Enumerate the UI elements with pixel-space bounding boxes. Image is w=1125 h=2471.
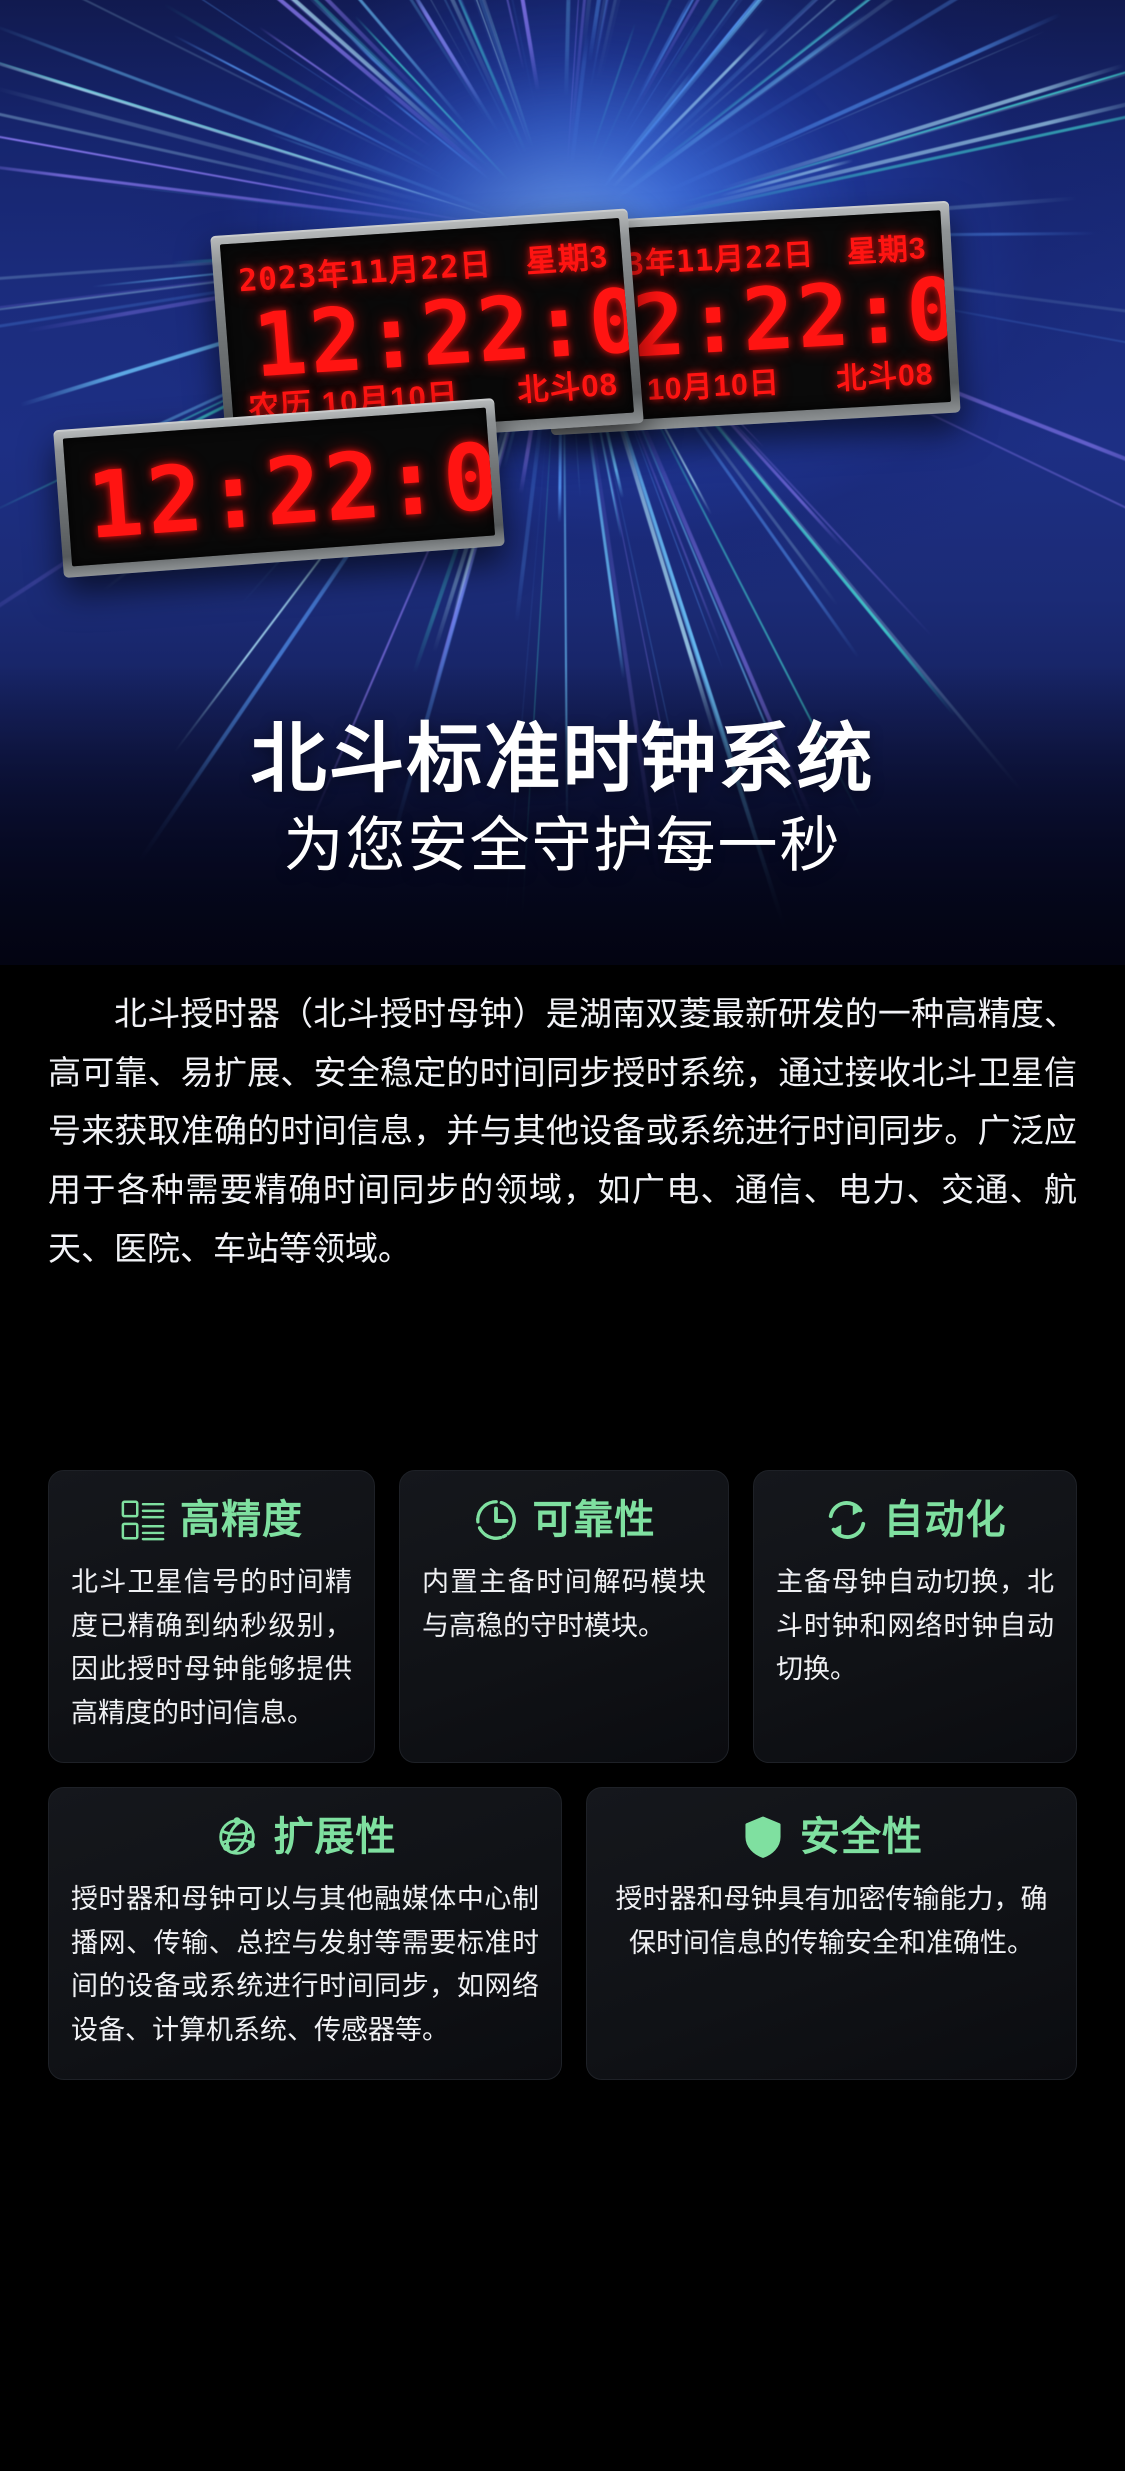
card-body: 主备母钟自动切换，北斗时钟和网络时钟自动切换。 [776, 1561, 1054, 1692]
led-screen: 12:22:03 [63, 408, 495, 567]
globe-network-icon [214, 1814, 260, 1860]
list-squares-icon [120, 1497, 166, 1543]
led-clock-small: 12:22:03 [53, 398, 505, 578]
card-header: 可靠性 [422, 1497, 706, 1543]
page-subtitle: 为您安全守护每一秒 [0, 812, 1125, 879]
feature-card-automation[interactable]: 自动化 主备母钟自动切换，北斗时钟和网络时钟自动切换。 [753, 1470, 1077, 1763]
clock-group: 2023年11月22日 星期3 12:22:03 农历 10月10日 北斗08 … [0, 0, 1125, 660]
card-title: 可靠性 [533, 1500, 656, 1540]
feature-card-precision[interactable]: 高精度 北斗卫星信号的时间精度已精确到纳秒级别，因此授时母钟能够提供高精度的时间… [48, 1470, 375, 1763]
hero-banner: 2023年11月22日 星期3 12:22:03 农历 10月10日 北斗08 … [0, 0, 1125, 965]
shield-icon [740, 1814, 786, 1860]
card-header: 自动化 [776, 1497, 1054, 1543]
feature-cards: 高精度 北斗卫星信号的时间精度已精确到纳秒级别，因此授时母钟能够提供高精度的时间… [48, 1470, 1077, 2080]
clock-source: 北斗08 [835, 349, 935, 398]
card-title: 安全性 [800, 1817, 923, 1857]
card-body: 内置主备时间解码模块与高稳的守时模块。 [422, 1561, 706, 1648]
card-title: 自动化 [884, 1500, 1007, 1540]
clock-source: 北斗08 [516, 359, 620, 411]
intro-paragraph: 北斗授时器（北斗授时母钟）是湖南双菱最新研发的一种高精度、高可靠、易扩展、安全稳… [0, 985, 1125, 1279]
card-body: 授时器和母钟具有加密传输能力，确保时间信息的传输安全和准确性。 [609, 1878, 1054, 1965]
card-header: 安全性 [609, 1814, 1054, 1860]
feature-card-reliability[interactable]: 可靠性 内置主备时间解码模块与高稳的守时模块。 [399, 1470, 729, 1763]
feature-card-security[interactable]: 安全性 授时器和母钟具有加密传输能力，确保时间信息的传输安全和准确性。 [586, 1787, 1077, 2080]
card-title: 高精度 [180, 1500, 303, 1540]
page-title: 北斗标准时钟系统 [0, 718, 1125, 802]
card-title: 扩展性 [274, 1817, 397, 1857]
clock-icon [473, 1497, 519, 1543]
card-header: 高精度 [71, 1497, 352, 1543]
card-body: 北斗卫星信号的时间精度已精确到纳秒级别，因此授时母钟能够提供高精度的时间信息。 [71, 1561, 352, 1736]
card-header: 扩展性 [71, 1814, 539, 1860]
feature-card-scalability[interactable]: 扩展性 授时器和母钟可以与其他融媒体中心制播网、传输、总控与发射等需要标准时间的… [48, 1787, 562, 2080]
feature-row-1: 高精度 北斗卫星信号的时间精度已精确到纳秒级别，因此授时母钟能够提供高精度的时间… [48, 1470, 1077, 1763]
card-body: 授时器和母钟可以与其他融媒体中心制播网、传输、总控与发射等需要标准时间的设备或系… [71, 1878, 539, 2053]
refresh-cycle-icon [824, 1497, 870, 1543]
hero-headings: 北斗标准时钟系统 为您安全守护每一秒 [0, 718, 1125, 879]
feature-row-2: 扩展性 授时器和母钟可以与其他融媒体中心制播网、传输、总控与发射等需要标准时间的… [48, 1787, 1077, 2080]
clock-time: 12:22:03 [84, 418, 495, 560]
